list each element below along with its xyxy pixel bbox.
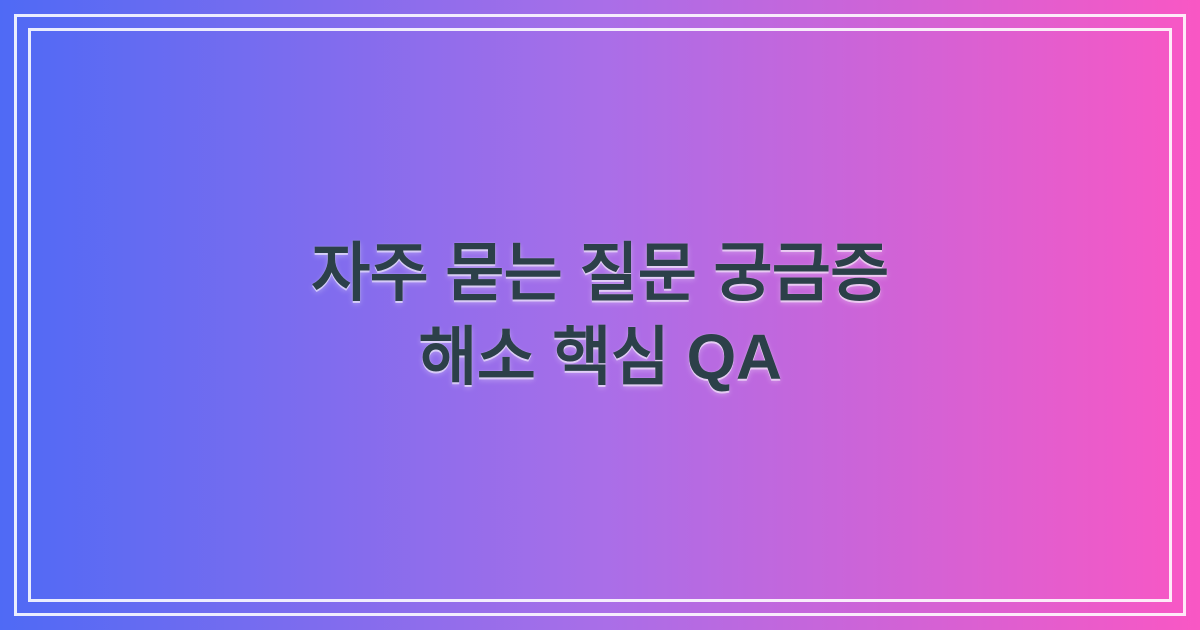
banner-content: 자주 묻는 질문 궁금증 해소 핵심 QA <box>0 0 1200 630</box>
page-title: 자주 묻는 질문 궁금증 해소 핵심 QA <box>96 231 1104 400</box>
page-title-line-2: 해소 핵심 QA <box>418 321 781 393</box>
page-title-line-1: 자주 묻는 질문 궁금증 <box>311 237 888 309</box>
og-banner-card: 자주 묻는 질문 궁금증 해소 핵심 QA <box>0 0 1200 630</box>
